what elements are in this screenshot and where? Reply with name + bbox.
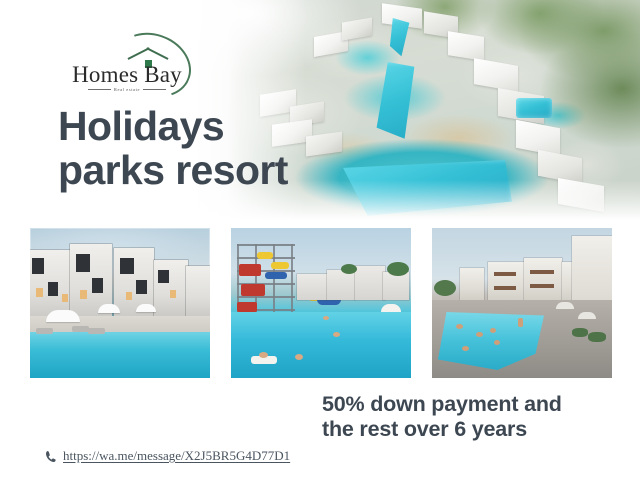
gallery-image-courtyard-pool bbox=[432, 228, 612, 378]
headline: Holidays parks resort bbox=[58, 104, 388, 193]
brand-tagline: Real estate bbox=[114, 87, 140, 92]
brand-name: Homes Bay bbox=[62, 62, 192, 88]
tagline-rule-left bbox=[88, 89, 111, 90]
phone-icon bbox=[44, 449, 58, 464]
tagline-rule-right bbox=[143, 89, 166, 90]
advertisement-poster: Homes Bay Real estate Holidays parks res… bbox=[0, 0, 640, 480]
promo-line-1: 50% down payment and bbox=[322, 392, 562, 416]
image-gallery bbox=[30, 228, 612, 378]
gallery-image-aqua-park bbox=[231, 228, 411, 378]
contact-link-row[interactable]: https://wa.me/message/X2J5BR5G4D77D1 bbox=[44, 448, 290, 464]
promo-line-2: the rest over 6 years bbox=[322, 417, 622, 442]
whatsapp-link[interactable]: https://wa.me/message/X2J5BR5G4D77D1 bbox=[63, 448, 290, 464]
headline-line-2: parks resort bbox=[58, 148, 388, 192]
brand-logo: Homes Bay Real estate bbox=[62, 34, 192, 96]
gallery-image-apartments-pool bbox=[30, 228, 210, 378]
brand-tagline-row: Real estate bbox=[88, 87, 166, 92]
promo-offer-text: 50% down payment and the rest over 6 yea… bbox=[322, 392, 622, 443]
headline-line-1: Holidays bbox=[58, 103, 224, 149]
